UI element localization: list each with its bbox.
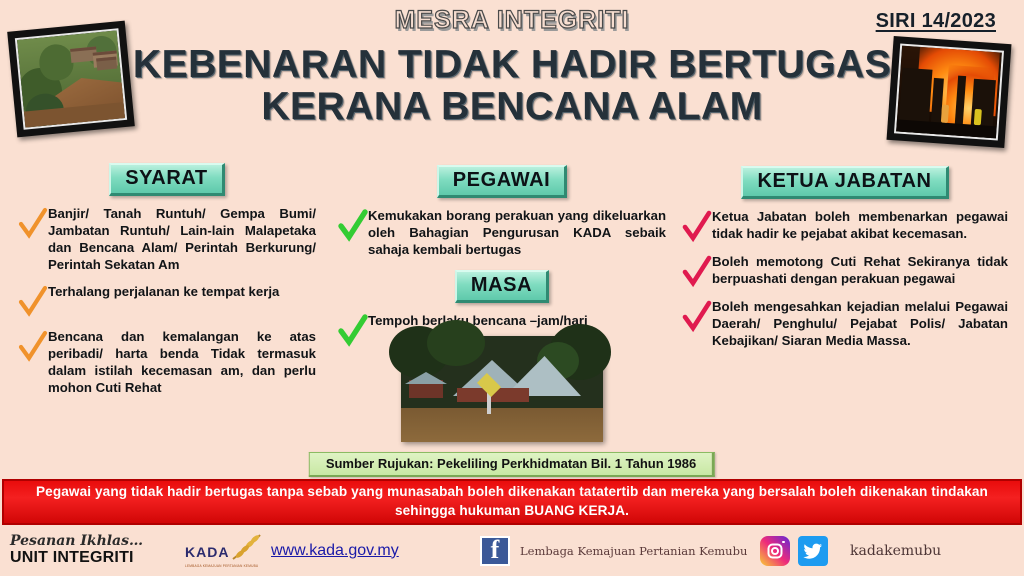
badge-syarat: SYARAT: [109, 163, 225, 196]
poster-footer: Pesanan Ikhlas… UNIT INTEGRITI KADA LEMB…: [0, 525, 1024, 576]
check-orange-icon: [18, 330, 48, 364]
footer-social-block: kadakemubu: [760, 536, 941, 566]
twitter-icon[interactable]: [798, 536, 828, 566]
social-handle: kadakemubu: [850, 543, 941, 559]
list-item-text: Boleh mengesahkan kejadian melalui Pegaw…: [712, 298, 1008, 349]
poster-title: KEBENARAN TIDAK HADIR BERTUGAS KERANA BE…: [0, 44, 1024, 128]
badge-pegawai: PEGAWAI: [437, 165, 568, 198]
list-item-text: Boleh memotong Cuti Rehat Sekiranya tida…: [712, 253, 1008, 287]
ketua-bullet-list: Ketua Jabatan boleh membenarkan pegawai …: [682, 208, 1008, 349]
source-reference-bar: Sumber Rujukan: Pekeliling Perkhidmatan …: [309, 452, 715, 477]
kada-tagline: LEMBAGA KEMAJUAN PERTANIAN KEMUBU: [185, 564, 258, 568]
check-crimson-icon: [682, 210, 712, 244]
infographic-poster: MESRA INTEGRITI SIRI 14/2023 KEBENARAN T…: [0, 0, 1024, 576]
column-ketua-jabatan: KETUA JABATAN Ketua Jabatan boleh memben…: [674, 158, 1024, 458]
footer-facebook-block[interactable]: Lembaga Kemajuan Pertanian Kemubu: [480, 536, 760, 566]
fire-photo: [887, 36, 1012, 148]
poster-header: MESRA INTEGRITI SIRI 14/2023 KEBENARAN T…: [0, 0, 1024, 158]
check-crimson-icon: [682, 300, 712, 334]
poster-kicker: MESRA INTEGRITI: [0, 6, 1024, 35]
wheat-icon: [229, 533, 263, 561]
badge-ketua-jabatan: KETUA JABATAN: [741, 166, 948, 199]
website-link[interactable]: www.kada.gov.my: [271, 542, 399, 560]
facebook-icon[interactable]: [480, 536, 510, 566]
source-reference-text: Sumber Rujukan: Pekeliling Perkhidmatan …: [326, 456, 696, 471]
list-item-text: Ketua Jabatan boleh membenarkan pegawai …: [712, 208, 1008, 242]
list-item: Boleh memotong Cuti Rehat Sekiranya tida…: [682, 253, 1008, 289]
title-line-2: KERANA BENCANA ALAM: [0, 86, 1024, 128]
unit-integriti-label: UNIT INTEGRITI: [10, 549, 185, 567]
syarat-bullet-list: Banjir/ Tanah Runtuh/ Gempa Bumi/ Jambat…: [18, 205, 316, 396]
series-label: SIRI 14/2023: [876, 10, 996, 33]
column-syarat: SYARAT Banjir/ Tanah Runtuh/ Gempa Bumi/…: [0, 158, 330, 458]
warning-banner-text: Pegawai yang tidak hadir bertugas tanpa …: [22, 483, 1002, 521]
kada-wordmark: KADA: [185, 544, 229, 560]
warning-banner: Pegawai yang tidak hadir bertugas tanpa …: [2, 479, 1022, 525]
facebook-page-name: Lembaga Kemajuan Pertanian Kemubu: [520, 544, 747, 558]
column-pegawai: PEGAWAI Kemukakan borang perakuan yang d…: [330, 158, 674, 458]
check-green-icon: [338, 209, 368, 243]
kada-logo-icon: KADA LEMBAGA KEMAJUAN PERTANIAN KEMUBU: [185, 533, 263, 569]
footer-kada-block: KADA LEMBAGA KEMAJUAN PERTANIAN KEMUBU w…: [185, 533, 480, 569]
content-columns: SYARAT Banjir/ Tanah Runtuh/ Gempa Bumi/…: [0, 158, 1024, 458]
pesanan-ikhlas-label: Pesanan Ikhlas…: [10, 534, 185, 549]
list-item-text: Terhalang perjalanan ke tempat kerja: [48, 283, 316, 300]
list-item-text: Banjir/ Tanah Runtuh/ Gempa Bumi/ Jambat…: [48, 205, 316, 274]
pegawai-bullet-list: Kemukakan borang perakuan yang dikeluark…: [338, 207, 666, 258]
list-item: Bencana dan kemalangan ke atas peribadi/…: [18, 328, 316, 397]
title-line-1: KEBENARAN TIDAK HADIR BERTUGAS: [0, 44, 1024, 86]
list-item-text: Bencana dan kemalangan ke atas peribadi/…: [48, 328, 316, 397]
list-item: Terhalang perjalanan ke tempat kerja: [18, 283, 316, 319]
check-orange-icon: [18, 285, 48, 319]
list-item: Ketua Jabatan boleh membenarkan pegawai …: [682, 208, 1008, 244]
check-green-icon: [338, 314, 368, 348]
footer-unit-block: Pesanan Ikhlas… UNIT INTEGRITI: [0, 534, 185, 566]
list-item: Banjir/ Tanah Runtuh/ Gempa Bumi/ Jambat…: [18, 205, 316, 274]
list-item: Kemukakan borang perakuan yang dikeluark…: [338, 207, 666, 258]
list-item: Boleh mengesahkan kejadian melalui Pegaw…: [682, 298, 1008, 349]
flood-photo: [401, 336, 603, 442]
check-orange-icon: [18, 207, 48, 241]
check-crimson-icon: [682, 255, 712, 289]
instagram-icon[interactable]: [760, 536, 790, 566]
list-item-text: Kemukakan borang perakuan yang dikeluark…: [368, 207, 666, 258]
badge-masa: MASA: [455, 270, 549, 303]
